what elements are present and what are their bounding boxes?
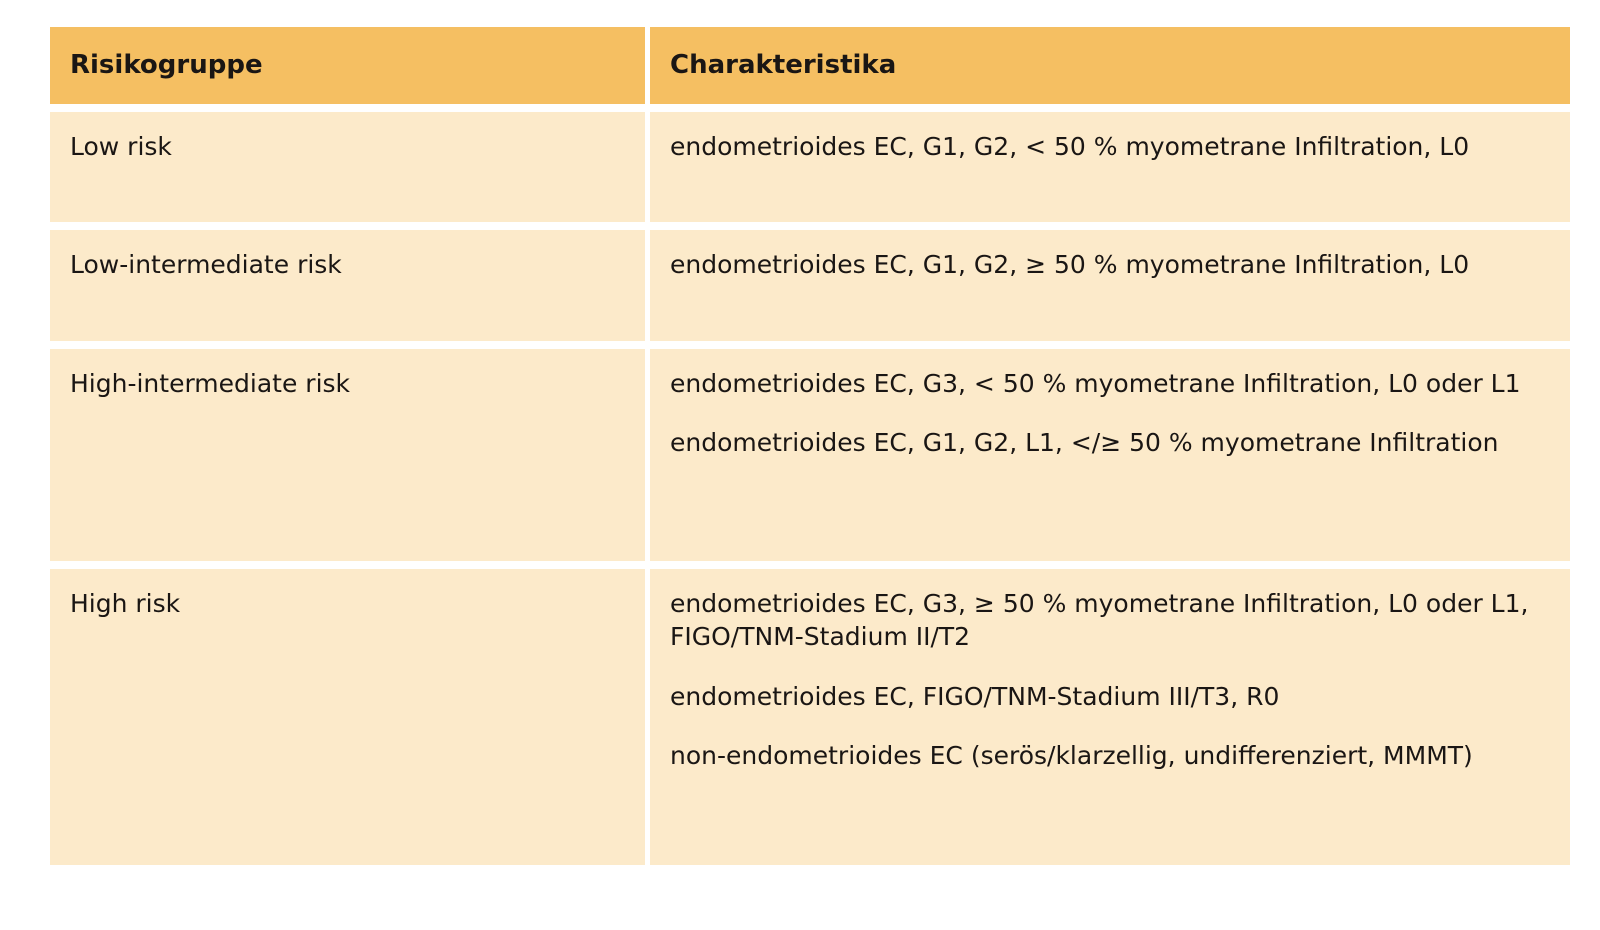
table-row: High risk endometrioides EC, G3, ≥ 50 % … bbox=[50, 561, 1570, 865]
cell-charakteristika: endometrioides EC, G3, ≥ 50 % myometrane… bbox=[650, 561, 1570, 865]
risk-group-label: High risk bbox=[70, 587, 625, 620]
cell-risikogruppe: Low risk bbox=[50, 104, 650, 222]
risk-group-label: Low risk bbox=[70, 130, 625, 163]
column-header-charakteristika: Charakteristika bbox=[650, 27, 1570, 104]
characteristic-paragraph: endometrioides EC, G1, G2, ≥ 50 % myomet… bbox=[670, 248, 1548, 281]
table-row: Low-intermediate risk endometrioides EC,… bbox=[50, 222, 1570, 341]
table-body: Low risk endometrioides EC, G1, G2, < 50… bbox=[50, 104, 1570, 865]
cell-risikogruppe: Low-intermediate risk bbox=[50, 222, 650, 341]
risk-group-label: High-intermediate risk bbox=[70, 367, 625, 400]
characteristic-paragraph: non-endometrioides EC (serös/klarzellig,… bbox=[670, 739, 1548, 772]
cell-charakteristika: endometrioides EC, G1, G2, < 50 % myomet… bbox=[650, 104, 1570, 222]
characteristic-paragraph: endometrioides EC, G3, < 50 % myometrane… bbox=[670, 367, 1548, 400]
characteristic-paragraph: endometrioides EC, G1, G2, < 50 % myomet… bbox=[670, 130, 1548, 163]
characteristic-paragraph: endometrioides EC, FIGO/TNM-Stadium III/… bbox=[670, 680, 1548, 713]
characteristic-paragraph: endometrioides EC, G3, ≥ 50 % myometrane… bbox=[670, 587, 1548, 654]
cell-risikogruppe: High risk bbox=[50, 561, 650, 865]
table-header-row: Risikogruppe Charakteristika bbox=[50, 27, 1570, 104]
table-row: High-intermediate risk endometrioides EC… bbox=[50, 341, 1570, 561]
characteristic-paragraph: endometrioides EC, G1, G2, L1, </≥ 50 % … bbox=[670, 426, 1548, 459]
page-root: Risikogruppe Charakteristika Low risk en… bbox=[0, 0, 1600, 930]
cell-charakteristika: endometrioides EC, G1, G2, ≥ 50 % myomet… bbox=[650, 222, 1570, 341]
risk-group-label: Low-intermediate risk bbox=[70, 248, 625, 281]
column-header-risikogruppe: Risikogruppe bbox=[50, 27, 650, 104]
cell-risikogruppe: High-intermediate risk bbox=[50, 341, 650, 561]
cell-charakteristika: endometrioides EC, G3, < 50 % myometrane… bbox=[650, 341, 1570, 561]
table-row: Low risk endometrioides EC, G1, G2, < 50… bbox=[50, 104, 1570, 222]
table-header: Risikogruppe Charakteristika bbox=[50, 27, 1570, 104]
risk-groups-table: Risikogruppe Charakteristika Low risk en… bbox=[50, 27, 1570, 865]
